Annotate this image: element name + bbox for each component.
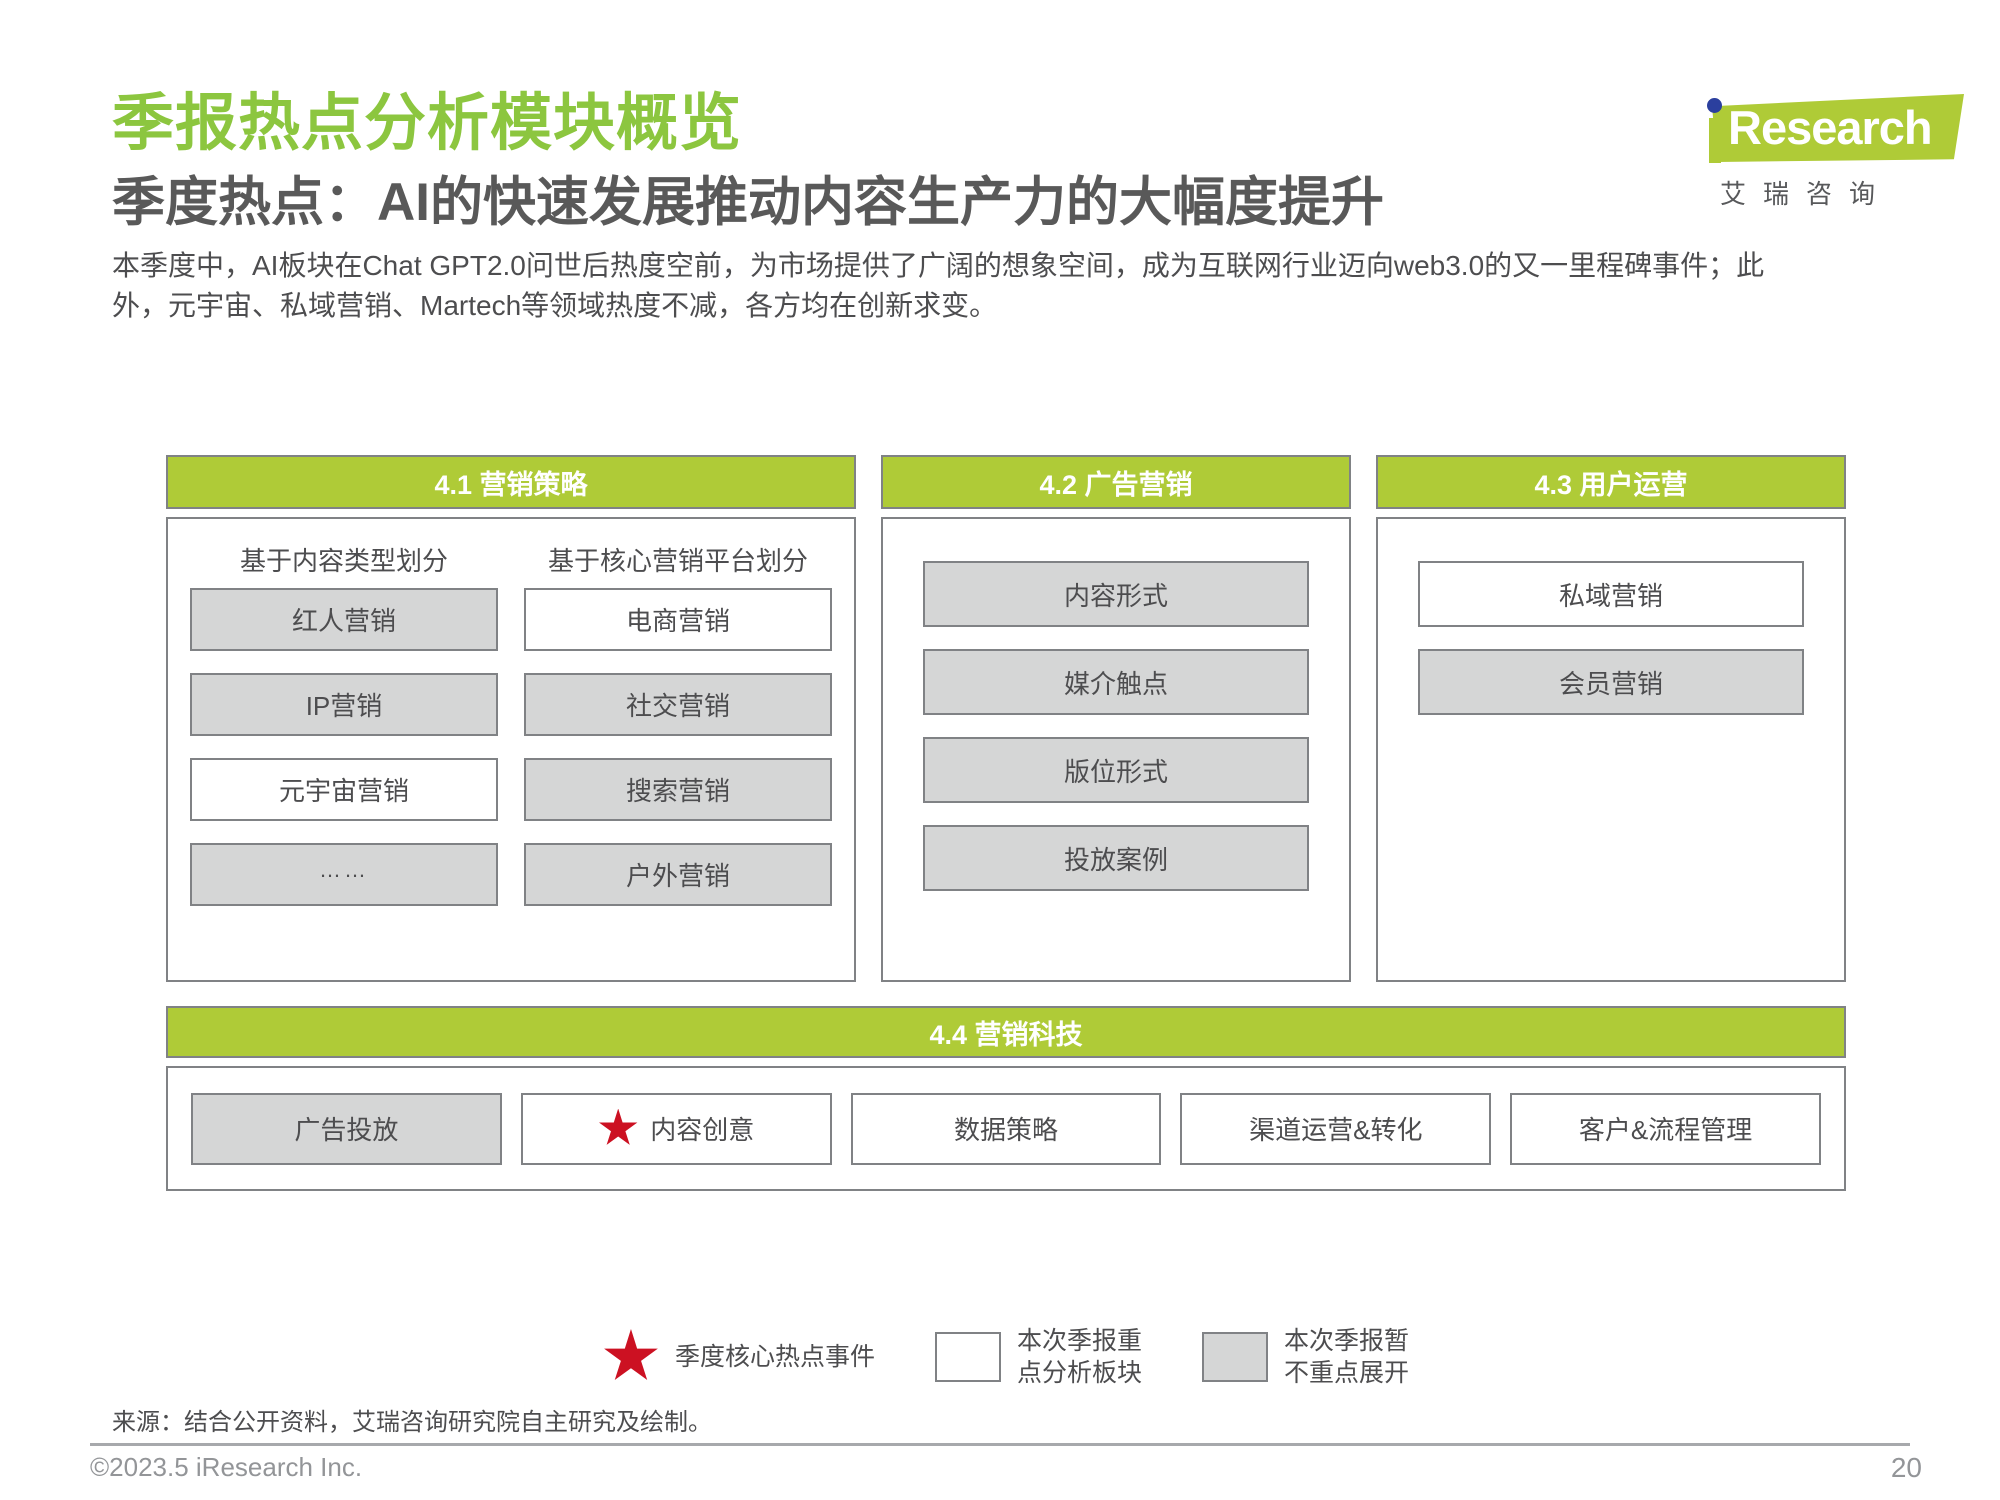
copyright-text: ©2023.5 iResearch Inc. <box>90 1452 362 1483</box>
cell-kol-marketing[interactable]: 红人营销 <box>190 588 498 651</box>
subhead-content-type: 基于内容类型划分 <box>190 541 498 578</box>
section-4-2-header: 4.2 广告营销 <box>881 455 1351 509</box>
section-4-4-header: 4.4 营销科技 <box>166 1006 1846 1058</box>
cell-content-creative[interactable]: 内容创意 <box>521 1093 832 1165</box>
section-4-2: 4.2 广告营销 内容形式 媒介触点 版位形式 投放案例 <box>881 455 1351 982</box>
legend-not-focus-line1: 本次季报暂 <box>1284 1327 1409 1355</box>
logo-i-stem-icon <box>1709 118 1721 163</box>
section-4-1-body: 基于内容类型划分 基于核心营销平台划分 红人营销 IP营销 元宇宙营销 …… 电… <box>166 517 856 982</box>
cell-data-strategy-label: 数据策略 <box>954 1110 1058 1147</box>
legend-focus-label: 本次季报重 点分析板块 <box>1017 1325 1142 1389</box>
cell-ad-delivery[interactable]: 广告投放 <box>191 1093 502 1165</box>
subhead-core-platform: 基于核心营销平台划分 <box>524 541 832 578</box>
section-4-2-body: 内容形式 媒介触点 版位形式 投放案例 <box>881 517 1351 982</box>
footer-divider <box>90 1443 1910 1446</box>
legend-item-focus: 本次季报重 点分析板块 <box>935 1325 1142 1389</box>
section-4-1-header: 4.1 营销策略 <box>166 455 856 509</box>
cell-ip-marketing[interactable]: IP营销 <box>190 673 498 736</box>
legend-white-swatch-icon <box>935 1332 1001 1382</box>
legend-gray-swatch-icon <box>1202 1332 1268 1382</box>
cell-channel-ops-conversion-label: 渠道运营&转化 <box>1249 1110 1422 1147</box>
cell-ellipsis[interactable]: …… <box>190 843 498 906</box>
source-note: 来源：结合公开资料，艾瑞咨询研究院自主研究及绘制。 <box>112 1402 712 1437</box>
cell-customer-process-management[interactable]: 客户&流程管理 <box>1510 1093 1821 1165</box>
page-number: 20 <box>1891 1452 1922 1484</box>
diagram-board: 4.1 营销策略 基于内容类型划分 基于核心营销平台划分 红人营销 IP营销 元… <box>166 455 1846 1191</box>
cell-private-domain-marketing[interactable]: 私域营销 <box>1418 561 1804 627</box>
cell-membership-marketing[interactable]: 会员营销 <box>1418 649 1804 715</box>
hotspot-star-icon <box>598 1109 638 1149</box>
legend-item-not-focus: 本次季报暂 不重点展开 <box>1202 1325 1409 1389</box>
section-4-1-subheads: 基于内容类型划分 基于核心营销平台划分 <box>190 541 832 578</box>
cell-placement-format[interactable]: 版位形式 <box>923 737 1309 803</box>
iresearch-logo: Research 艾瑞咨询 <box>1676 76 1966 206</box>
legend-item-hotspot: 季度核心热点事件 <box>603 1329 875 1385</box>
section-4-3: 4.3 用户运营 私域营销 会员营销 <box>1376 455 1846 982</box>
section-4-3-header: 4.3 用户运营 <box>1376 455 1846 509</box>
section-4-1: 4.1 营销策略 基于内容类型划分 基于核心营销平台划分 红人营销 IP营销 元… <box>166 455 856 982</box>
section-4-4-body: 广告投放 内容创意 数据策略 渠道运营&转化 客户&流程管理 <box>166 1066 1846 1191</box>
section-4-1-left-stack: 红人营销 IP营销 元宇宙营销 …… <box>190 588 498 906</box>
legend-not-focus-line2: 不重点展开 <box>1284 1359 1409 1387</box>
legend-hotspot-label: 季度核心热点事件 <box>675 1341 875 1373</box>
cell-media-touchpoint[interactable]: 媒介触点 <box>923 649 1309 715</box>
section-4-3-body: 私域营销 会员营销 <box>1376 517 1846 982</box>
section-4-1-cells: 红人营销 IP营销 元宇宙营销 …… 电商营销 社交营销 搜索营销 户外营销 <box>190 588 832 906</box>
legend-not-focus-label: 本次季报暂 不重点展开 <box>1284 1325 1409 1389</box>
cell-ecommerce-marketing[interactable]: 电商营销 <box>524 588 832 651</box>
logo-chinese-name: 艾瑞咨询 <box>1720 174 1892 211</box>
cell-metaverse-marketing[interactable]: 元宇宙营销 <box>190 758 498 821</box>
cell-social-marketing[interactable]: 社交营销 <box>524 673 832 736</box>
intro-paragraph: 本季度中，AI板块在Chat GPT2.0问世后热度空前，为市场提供了广阔的想象… <box>112 246 1812 326</box>
logo-wordmark: Research <box>1728 102 1932 154</box>
cell-ad-delivery-label: 广告投放 <box>294 1110 398 1147</box>
column-group: 4.1 营销策略 基于内容类型划分 基于核心营销平台划分 红人营销 IP营销 元… <box>166 455 1846 982</box>
section-4-1-right-stack: 电商营销 社交营销 搜索营销 户外营销 <box>524 588 832 906</box>
legend-focus-line2: 点分析板块 <box>1017 1359 1142 1387</box>
cell-customer-process-management-label: 客户&流程管理 <box>1579 1110 1752 1147</box>
cell-channel-ops-conversion[interactable]: 渠道运营&转化 <box>1180 1093 1491 1165</box>
legend-star-icon <box>603 1329 659 1385</box>
page-title: 季报热点分析模块概览 <box>112 88 742 160</box>
cell-campaign-case[interactable]: 投放案例 <box>923 825 1309 891</box>
cell-data-strategy[interactable]: 数据策略 <box>851 1093 1162 1165</box>
cell-content-creative-label: 内容创意 <box>650 1110 754 1147</box>
logo-dot-icon <box>1707 98 1722 113</box>
cell-outdoor-marketing[interactable]: 户外营销 <box>524 843 832 906</box>
legend: 季度核心热点事件 本次季报重 点分析板块 本次季报暂 不重点展开 <box>166 1325 1846 1389</box>
page-subtitle: 季度热点：AI的快速发展推动内容生产力的大幅度提升 <box>112 172 1384 234</box>
legend-focus-line1: 本次季报重 <box>1017 1327 1142 1355</box>
cell-content-format[interactable]: 内容形式 <box>923 561 1309 627</box>
cell-search-marketing[interactable]: 搜索营销 <box>524 758 832 821</box>
